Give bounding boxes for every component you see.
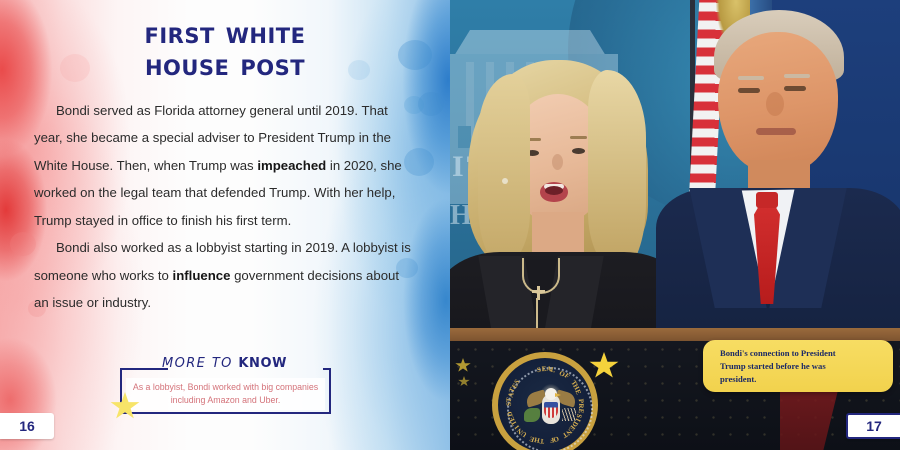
page-title-line-2: House Post [0,50,450,82]
earring [502,178,508,184]
page-number-right: 17 [846,413,900,439]
photo-caption-box: Bondi's connection to President Trump st… [703,340,893,392]
callout-heading-bold: KNOW [238,356,287,371]
body-text: Bondi served as Florida attorney general… [34,97,416,317]
page-title: First White House Post [0,18,450,83]
cross-pendant-bar [532,290,545,293]
woman-speaking [460,60,670,360]
photo-caption-text: Bondi's connection to President Trump st… [720,347,842,386]
necklace [522,258,560,294]
callout-heading: MORE TO KNOW [162,356,287,371]
navy-suit [656,188,900,348]
eyebrow [784,74,810,78]
book-spread: First White House Post Bondi served as F… [0,0,900,450]
page-title-line-1: First White [0,18,450,50]
paragraph-2: Bondi also worked as a lobbyist starting… [34,234,416,316]
eyebrow [738,76,764,80]
hair-strand-right [588,70,646,270]
more-to-know-callout: MORE TO KNOW As a lobbyist, Bondi worked… [120,362,335,418]
mouth [540,182,568,202]
paragraph-1: Bondi served as Florida attorney general… [34,97,416,234]
white-house-pediment [454,30,606,56]
mouth [756,128,796,135]
nose [552,154,563,170]
eye [784,86,806,91]
eye [572,148,585,154]
eagle-shield [544,402,558,418]
left-page: First White House Post Bondi served as F… [0,0,450,450]
arrows [562,408,576,421]
callout-body-text: As a lobbyist, Bondi worked with big com… [126,378,325,410]
callout-heading-light: MORE TO [162,356,233,371]
hair-strand-left [478,74,530,264]
nose [766,92,784,116]
right-page-photo: ITE HIN [450,0,900,450]
page-number-left: 16 [0,413,54,439]
mouth-interior [545,186,563,195]
man-at-podium [662,10,900,340]
eagle-icon [528,386,574,432]
olive-branch [524,408,540,422]
eyebrow [570,136,587,139]
necktie-knot [756,192,778,208]
eye [738,88,760,93]
presidential-seal-icon: SEAL OF THE PRESIDENT OF THE UNITED STAT… [492,352,598,450]
